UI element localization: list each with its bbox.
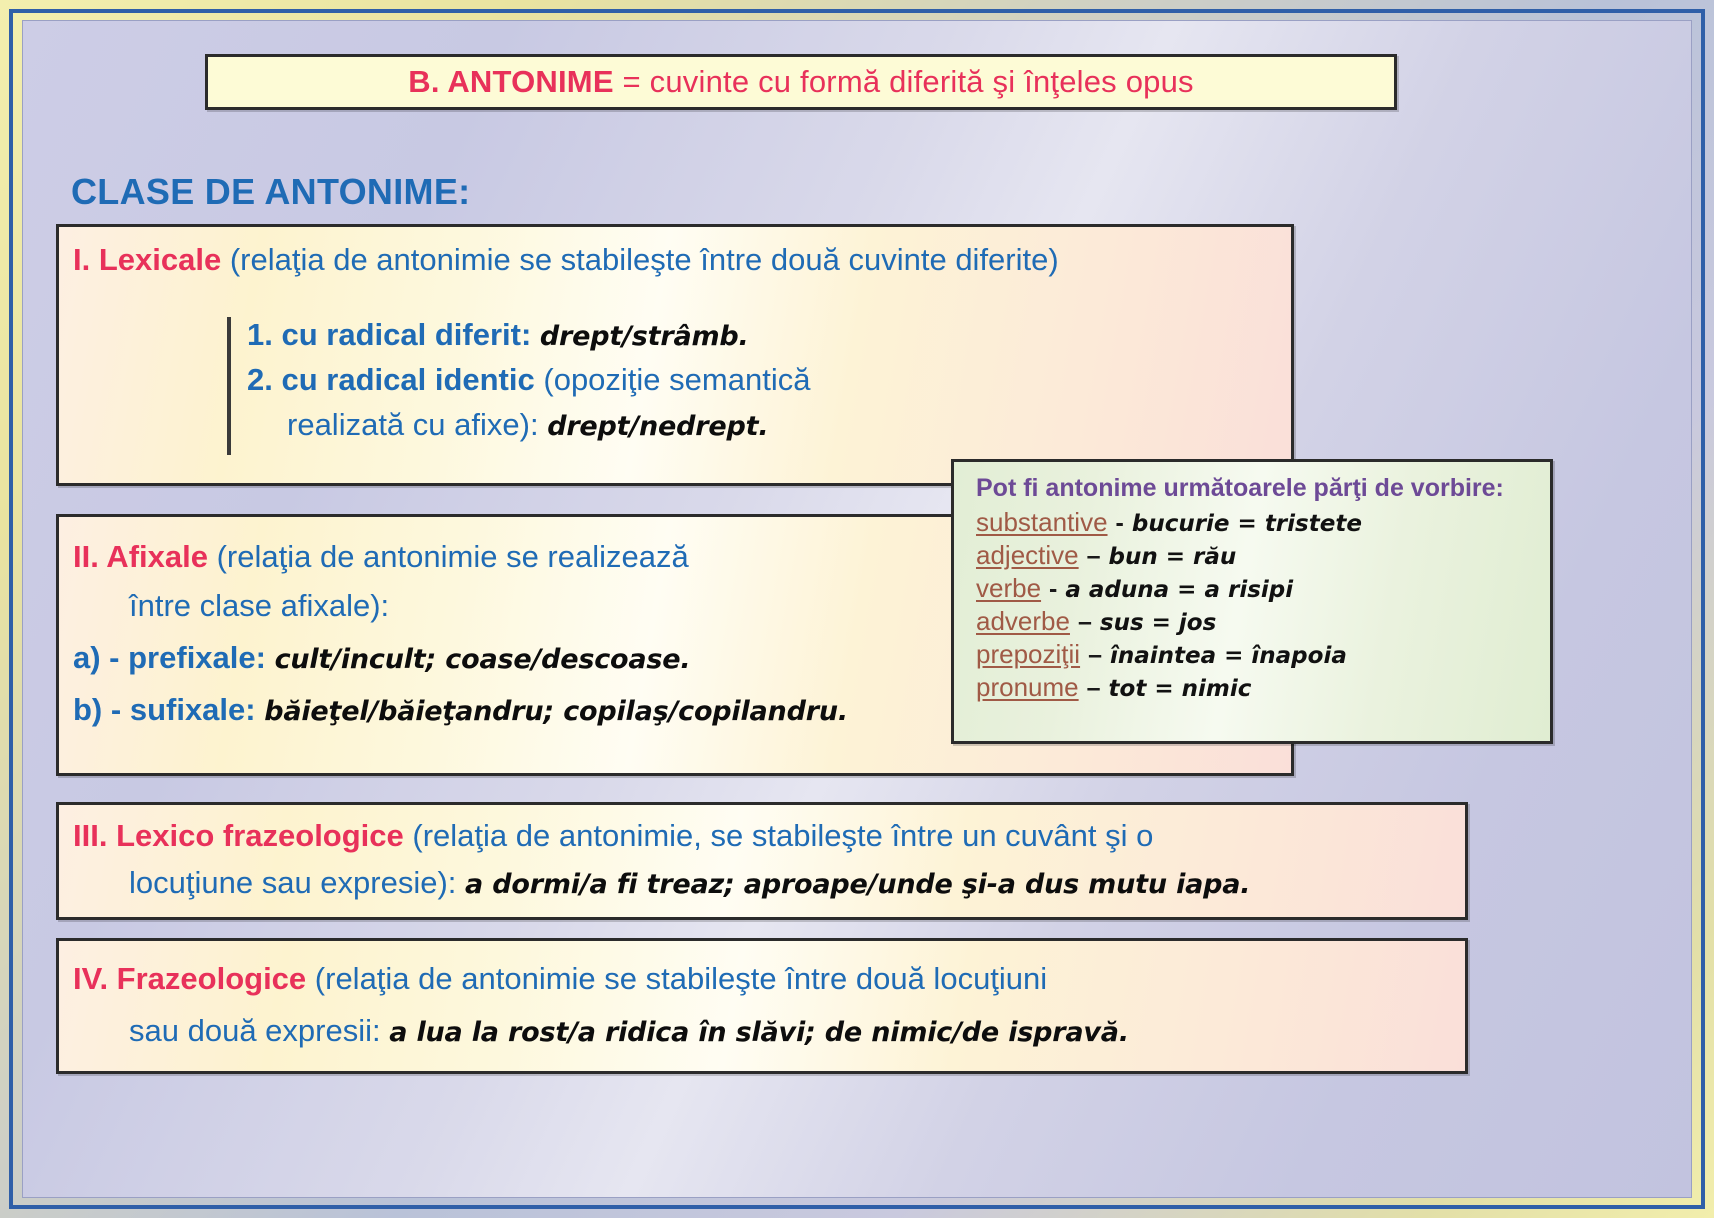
item-bold-text: prefixale: [128, 640, 266, 675]
part-of-speech-term: adjective [976, 540, 1079, 571]
part-of-speech-term: substantive [976, 507, 1108, 538]
section-4-description-line2: sau două expresii: [129, 1013, 381, 1048]
list-item: 1. cu radical diferit: drept/strâmb. [247, 314, 810, 355]
item-bold-text: cu radical identic [281, 362, 534, 397]
section-1-label: I. Lexicale [73, 242, 221, 277]
section-1-vertical-rule [227, 317, 231, 455]
parts-of-speech-box: Pot fi antonime următoarele părţi de vor… [951, 459, 1553, 744]
part-of-speech-term: adverbe [976, 606, 1070, 637]
part-of-speech-term: prepoziţii [976, 639, 1080, 670]
section-frazeologice: IV. Frazeologice (relaţia de antonimie s… [56, 938, 1468, 1074]
item-continuation-text: realizată cu afixe): [287, 407, 539, 442]
list-item: adverbe – sus = jos [976, 606, 1550, 637]
poster-root: B. ANTONIME = cuvinte cu formă diferită … [0, 0, 1714, 1218]
section-4-example: a lua la rost/a ridica în slăvi; de nimi… [389, 1017, 1129, 1048]
item-paren-text: (opoziţie semantică [543, 362, 810, 397]
section-2-description: (relaţia de antonimie se realizează [217, 539, 689, 574]
list-item: pronume – tot = nimic [976, 672, 1550, 703]
section-3-example: a dormi/a fi treaz; aproape/unde şi-a du… [465, 869, 1250, 900]
list-item: 2. cu radical identic (opoziţie semantic… [247, 359, 810, 400]
part-of-speech-example: înaintea = înapoia [1110, 643, 1347, 669]
page-title: CLASE DE ANTONIME: [71, 171, 470, 213]
section-3-description: (relaţia de antonimie, se stabileşte înt… [412, 818, 1153, 853]
part-of-speech-example: bun = rău [1109, 544, 1237, 570]
list-item: adjective – bun = rău [976, 540, 1550, 571]
poster-stage: B. ANTONIME = cuvinte cu formă diferită … [22, 20, 1692, 1198]
list-item: a) - prefixale: cult/incult; coase/desco… [73, 637, 690, 678]
section-3-label: III. Lexico frazeologice [73, 818, 404, 853]
item-example: drept/strâmb. [540, 321, 749, 352]
separator-dash: - [1116, 509, 1124, 538]
section-1-heading: I. Lexicale (relaţia de antonimie se sta… [73, 239, 1059, 280]
list-item: prepoziţii – înaintea = înapoia [976, 639, 1550, 670]
list-item: b) - sufixale: băieţel/băieţandru; copil… [73, 689, 848, 730]
section-lexicale: I. Lexicale (relaţia de antonimie se sta… [56, 224, 1294, 486]
part-of-speech-example: a aduna = a risipi [1065, 577, 1293, 603]
section-3-description-line2: locuţiune sau expresie): [129, 865, 456, 900]
title-bold: B. ANTONIME [408, 64, 613, 99]
item-marker: a) - [73, 640, 120, 675]
section-2-label: II. Afixale [73, 539, 208, 574]
section-2-description-line2-text: între clase afixale): [129, 588, 389, 623]
item-example: drept/nedrept. [547, 411, 768, 442]
item-number: 1. [247, 317, 273, 352]
list-item: verbe - a aduna = a risipi [976, 573, 1550, 604]
item-bold-text: sufixale: [130, 692, 256, 727]
item-example: băieţel/băieţandru; copilaş/copilandru. [264, 696, 848, 727]
item-number: 2. [247, 362, 273, 397]
separator-dash: – [1087, 674, 1101, 703]
section-3-line2: locuţiune sau expresie): a dormi/a fi tr… [73, 862, 1250, 903]
title-banner: B. ANTONIME = cuvinte cu formă diferită … [205, 54, 1397, 110]
section-1-description: (relaţia de antonimie se stabileşte într… [230, 242, 1059, 277]
title-rest: = cuvinte cu formă diferită şi înţeles o… [614, 64, 1194, 99]
part-of-speech-example: bucurie = tristete [1132, 511, 1362, 537]
item-example: cult/incult; coase/descoase. [275, 644, 691, 675]
list-item-continuation: realizată cu afixe): drept/nedrept. [287, 404, 810, 445]
section-1-items: 1. cu radical diferit: drept/strâmb. 2. … [247, 314, 810, 446]
item-marker: b) - [73, 692, 121, 727]
separator-dash: - [1049, 575, 1057, 604]
section-4-heading: IV. Frazeologice (relaţia de antonimie s… [73, 958, 1047, 999]
separator-dash: – [1087, 542, 1101, 571]
part-of-speech-term: verbe [976, 573, 1041, 604]
section-2-heading: II. Afixale (relaţia de antonimie se rea… [73, 536, 689, 577]
section-4-line2: sau două expresii: a lua la rost/a ridic… [73, 1010, 1129, 1051]
separator-dash: – [1088, 641, 1102, 670]
parts-of-speech-title: Pot fi antonime următoarele părţi de vor… [976, 474, 1550, 503]
title-text: B. ANTONIME = cuvinte cu formă diferită … [408, 64, 1193, 100]
section-4-description: (relaţia de antonimie se stabileşte într… [315, 961, 1047, 996]
section-4-label: IV. Frazeologice [73, 961, 306, 996]
part-of-speech-term: pronume [976, 672, 1079, 703]
separator-dash: – [1078, 608, 1092, 637]
item-bold-text: cu radical diferit: [281, 317, 531, 352]
section-2-description-line2: între clase afixale): [73, 585, 389, 626]
part-of-speech-example: sus = jos [1100, 610, 1216, 636]
section-3-heading: III. Lexico frazeologice (relaţia de ant… [73, 815, 1153, 856]
list-item: substantive - bucurie = tristete [976, 507, 1550, 538]
part-of-speech-example: tot = nimic [1109, 676, 1252, 702]
section-lexico-frazeologice: III. Lexico frazeologice (relaţia de ant… [56, 802, 1468, 920]
